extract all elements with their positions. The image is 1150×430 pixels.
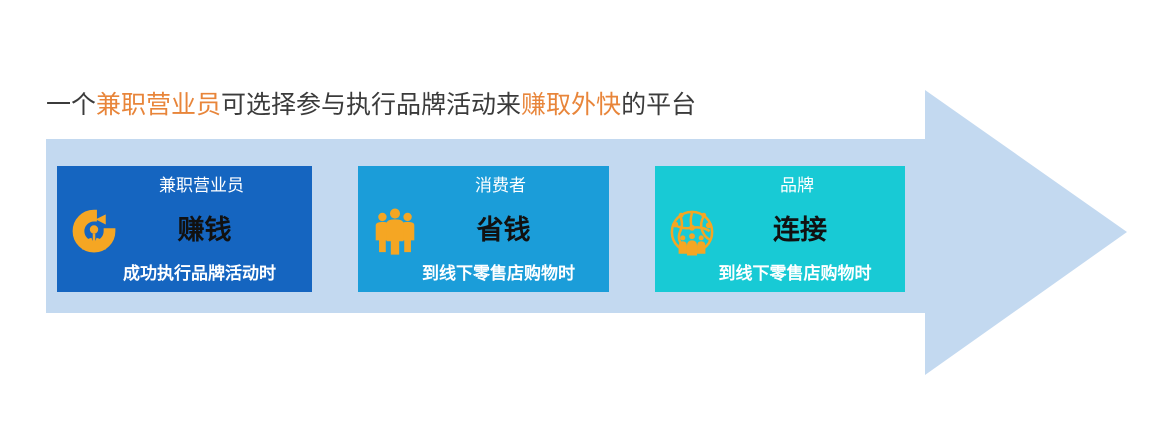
- card-main-label: 连接: [655, 210, 905, 250]
- card-main-label: 省钱: [358, 210, 609, 250]
- card-header-label: 消费者: [358, 175, 609, 197]
- card-main-label: 赚钱: [57, 210, 312, 250]
- card-header-label: 兼职营业员: [57, 175, 312, 197]
- title-segment-1: 兼职营业员: [96, 91, 221, 119]
- card-brand[interactable]: 品牌: [655, 166, 905, 292]
- title-segment-4: 的平台: [621, 91, 696, 119]
- title-segment-3: 赚取外快: [521, 91, 621, 119]
- card-caption-label: 到线下零售店购物时: [358, 262, 609, 286]
- card-part-time-staff[interactable]: 兼职营业员 赚钱 成功执行品牌活动时: [57, 166, 312, 292]
- title-segment-2: 可选择参与执行品牌活动来: [221, 91, 521, 119]
- card-caption-label: 成功执行品牌活动时: [57, 262, 312, 286]
- title-segment-0: 一个: [46, 91, 96, 119]
- card-header-label: 品牌: [655, 175, 905, 197]
- card-consumer[interactable]: 消费者 省钱 到线下零售店购物时: [358, 166, 609, 292]
- card-caption-label: 到线下零售店购物时: [655, 262, 905, 286]
- page-title: 一个兼职营业员可选择参与执行品牌活动来赚取外快的平台: [46, 88, 696, 122]
